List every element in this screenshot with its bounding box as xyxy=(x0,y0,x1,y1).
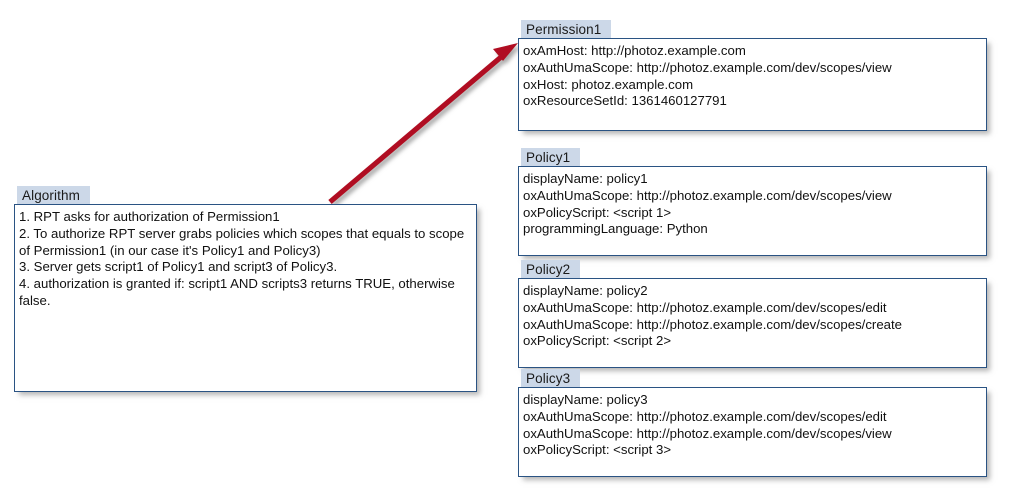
note-body-policy3: displayName: policy3 oxAuthUmaScope: htt… xyxy=(518,387,987,477)
note-line: oxResourceSetId: 1361460127791 xyxy=(523,93,980,110)
note-line: oxHost: photoz.example.com xyxy=(523,77,980,94)
note-body-policy1: displayName: policy1 oxAuthUmaScope: htt… xyxy=(518,166,987,256)
note-line: displayName: policy1 xyxy=(523,171,980,188)
note-line: programmingLanguage: Python xyxy=(523,221,980,238)
note-line: oxAuthUmaScope: http://photoz.example.co… xyxy=(523,60,980,77)
note-body-policy2: displayName: policy2 oxAuthUmaScope: htt… xyxy=(518,278,987,368)
note-line: oxPolicyScript: <script 3> xyxy=(523,442,980,459)
note-line: oxAuthUmaScope: http://photoz.example.co… xyxy=(523,317,980,334)
algorithm-to-permission1-arrow xyxy=(300,20,540,220)
note-line: oxAuthUmaScope: http://photoz.example.co… xyxy=(523,426,980,443)
note-line: 2. To authorize RPT server grabs policie… xyxy=(19,226,470,260)
note-line: oxAuthUmaScope: http://photoz.example.co… xyxy=(523,300,980,317)
note-line: displayName: policy2 xyxy=(523,283,980,300)
note-line: oxAuthUmaScope: http://photoz.example.co… xyxy=(523,409,980,426)
note-title-policy3: Policy3 xyxy=(521,369,580,388)
note-line: 4. authorization is granted if: script1 … xyxy=(19,276,470,310)
note-title-policy1: Policy1 xyxy=(521,148,580,167)
note-body-algorithm: 1. RPT asks for authorization of Permiss… xyxy=(14,204,477,392)
note-title-permission1: Permission1 xyxy=(521,20,611,39)
diagram-canvas: Algorithm 1. RPT asks for authorization … xyxy=(0,0,1019,494)
note-line: oxPolicyScript: <script 2> xyxy=(523,333,980,350)
note-title-algorithm: Algorithm xyxy=(17,186,90,205)
note-body-permission1: oxAmHost: http://photoz.example.com oxAu… xyxy=(518,38,987,131)
note-line: 3. Server gets script1 of Policy1 and sc… xyxy=(19,259,470,276)
note-line: displayName: policy3 xyxy=(523,392,980,409)
note-line: 1. RPT asks for authorization of Permiss… xyxy=(19,209,470,226)
note-title-policy2: Policy2 xyxy=(521,260,580,279)
note-line: oxPolicyScript: <script 1> xyxy=(523,205,980,222)
note-line: oxAmHost: http://photoz.example.com xyxy=(523,43,980,60)
note-line: oxAuthUmaScope: http://photoz.example.co… xyxy=(523,188,980,205)
